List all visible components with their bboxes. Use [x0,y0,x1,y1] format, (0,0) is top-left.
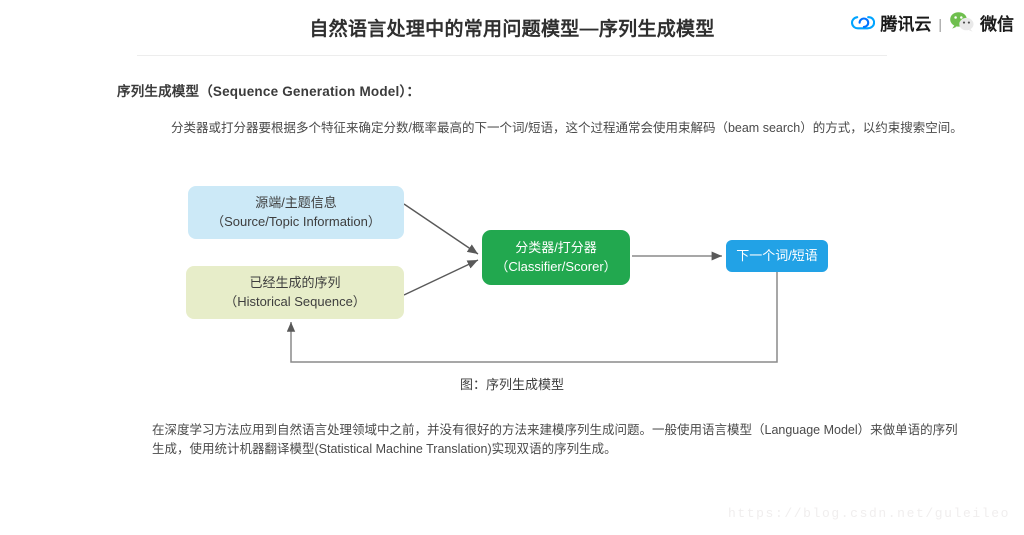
section-heading: 序列生成模型（Sequence Generation Model）： [117,80,420,100]
brand-separator: | [938,17,942,31]
node-classifier-scorer[interactable]: 分类器/打分器 （Classifier/Scorer） [482,230,630,285]
node-source-label-en: （Source/Topic Information） [211,212,381,232]
node-source-label-cn: 源端/主题信息 [255,194,337,212]
tencent-cloud-icon [851,12,875,37]
wechat-label: 微信 [980,16,1014,33]
node-classifier-label-en: （Classifier/Scorer） [495,257,616,277]
node-historical-sequence[interactable]: 已经生成的序列 （Historical Sequence） [186,266,404,319]
wechat-icon [949,11,975,37]
header-divider [137,55,887,56]
node-history-label-en: （Historical Sequence） [224,292,366,312]
intro-paragraph: 分类器或打分器要根据多个特征来确定分数/概率最高的下一个词/短语，这个过程通常会… [171,118,971,138]
node-next-word-phrase[interactable]: 下一个词/短语 [726,240,828,272]
tencent-cloud-label: 腾讯云 [880,16,931,33]
source-watermark: https://blog.csdn.net/guleileo [728,506,1010,521]
node-source-topic-information[interactable]: 源端/主题信息 （Source/Topic Information） [188,186,404,239]
edge-history-to-classifier [404,260,478,295]
edge-source-to-classifier [404,204,478,254]
bottom-paragraph: 在深度学习方法应用到自然语言处理领域中之前，并没有很好的方法来建模序列生成问题。… [152,421,964,459]
brand-lockup: 腾讯云 | 微信 [851,11,1014,37]
node-next-label-cn: 下一个词/短语 [736,247,818,265]
node-classifier-label-cn: 分类器/打分器 [515,239,597,257]
figure-caption: 图：序列生成模型 [0,374,1024,393]
slide-header: 自然语言处理中的常用问题模型—序列生成模型 腾讯云 | 微信 [0,0,1024,56]
node-history-label-cn: 已经生成的序列 [249,274,340,292]
